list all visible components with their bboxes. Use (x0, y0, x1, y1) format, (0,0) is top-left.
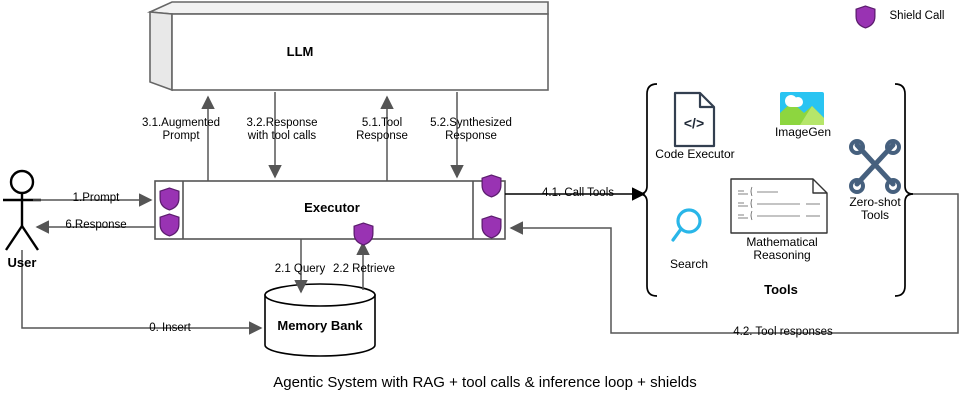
edge-label-retrieve: 2.2 Retrieve (314, 263, 414, 276)
shield-icon-tools-in (481, 215, 502, 239)
tool-label-code-executor: Code Executor (630, 148, 760, 161)
edge-label-response-tool-calls: 3.2.Response with tool calls (222, 117, 342, 143)
edge-label-synthesized-response: 5.2.Synthesized Response (411, 117, 531, 143)
shield-icon-executor-in (159, 187, 180, 211)
crossed-wrenches-icon (851, 141, 899, 192)
code-file-icon: </> (675, 93, 714, 146)
shield-icon-legend (855, 5, 876, 29)
shield-icon-executor-out (159, 213, 180, 237)
shield-icon-tools-out (481, 174, 502, 198)
svg-text:</>: </> (684, 115, 704, 131)
edge-label-response: 6.Response (41, 219, 151, 232)
tool-label-imagegen: ImageGen (743, 126, 863, 139)
edge-label-call-tools: 4.1. Call Tools (523, 187, 633, 200)
diagram-caption: Agentic System with RAG + tool calls & i… (0, 374, 970, 391)
tool-label-zero-shot: Zero-shot Tools (825, 196, 925, 222)
edge-label-prompt: 1.Prompt (41, 192, 151, 205)
user-stick-figure (3, 171, 41, 250)
shield-icon-memory (353, 222, 374, 246)
edge-label-augmented-prompt: 3.1.Augmented Prompt (126, 117, 236, 143)
llm-label: LLM (240, 45, 360, 58)
math-document-icon (731, 179, 827, 233)
tools-group-label: Tools (731, 283, 831, 296)
image-icon (780, 92, 824, 125)
memory-bank-label: Memory Bank (250, 319, 390, 332)
edge-label-tool-responses: 4.2. Tool responses (708, 326, 858, 339)
tool-label-math-reasoning: Mathematical Reasoning (717, 236, 847, 262)
legend-shield-label: Shield Call (877, 10, 957, 23)
executor-label: Executor (272, 201, 392, 214)
user-label: User (0, 256, 67, 269)
edge-label-insert: 0. Insert (90, 322, 250, 335)
magnifier-icon (673, 210, 700, 240)
